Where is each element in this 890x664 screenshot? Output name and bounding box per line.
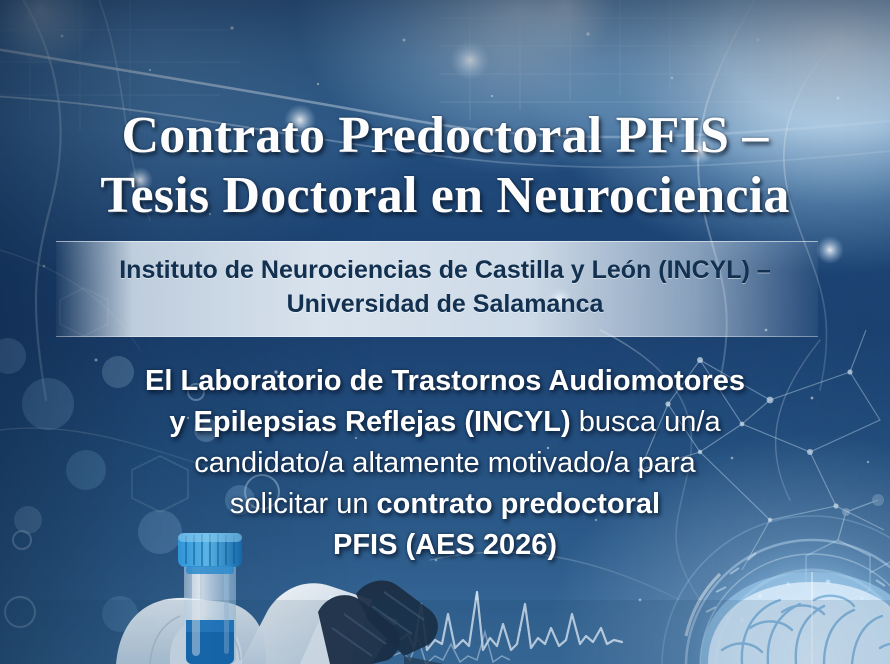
subtitle-line-1: Instituto de Neurociencias de Castilla y… (119, 256, 771, 284)
body-line-1-bold: El Laboratorio de Trastornos Audiomotore… (145, 365, 745, 397)
title-line-1: Contrato Predoctoral PFIS – (121, 107, 768, 164)
page-title: Contrato Predoctoral PFIS – Tesis Doctor… (0, 106, 890, 226)
body-line-3: candidato/a altamente motivado/a para (0, 443, 890, 484)
body-line-2-bold: y Epilepsias Reflejas (INCYL) (169, 406, 570, 438)
body-line-2-regular: busca un/a (571, 406, 721, 438)
body-line-4-bold: contrato predoctoral (377, 488, 661, 520)
institution-subtitle: Instituto de Neurociencias de Castilla y… (0, 253, 890, 321)
title-line-2: Tesis Doctoral en Neurociencia (100, 167, 789, 224)
poster-root: Contrato Predoctoral PFIS – Tesis Doctor… (0, 0, 890, 664)
subtitle-line-2: Universidad de Salamanca (287, 290, 604, 318)
body-line-1: El Laboratorio de Trastornos Audiomotore… (0, 361, 890, 402)
body-line-5-bold: PFIS (AES 2026) (333, 529, 557, 561)
body-line-2: y Epilepsias Reflejas (INCYL) busca un/a (0, 402, 890, 443)
body-line-4-regular: solicitar un (230, 488, 377, 520)
body-line-5: PFIS (AES 2026) (0, 525, 890, 566)
body-line-4: solicitar un contrato predoctoral (0, 484, 890, 525)
body-line-3-regular: candidato/a altamente motivado/a para (194, 447, 695, 479)
announcement-body: El Laboratorio de Trastornos Audiomotore… (0, 361, 890, 566)
